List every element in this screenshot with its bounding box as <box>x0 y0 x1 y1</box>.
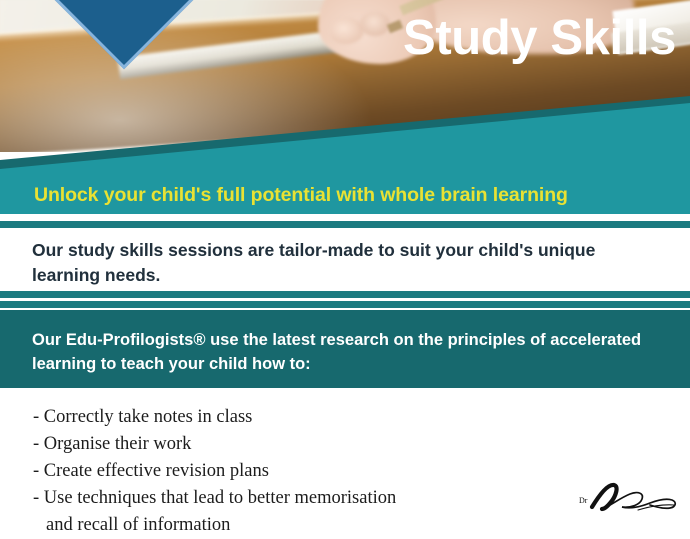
list-item: - Organise their work <box>33 431 553 458</box>
list-item: - Correctly take notes in class <box>33 404 553 431</box>
highlight-band-text: Our Edu-Profilogists® use the latest res… <box>32 329 647 377</box>
list-item-label: Correctly take notes in class <box>44 407 253 427</box>
benefits-list: - Correctly take notes in class- Organis… <box>33 404 553 539</box>
list-item-marker: - <box>33 407 44 427</box>
list-item: - Use techniques that lead to better mem… <box>33 485 553 512</box>
svg-text:Dr: Dr <box>579 496 588 505</box>
divider-rule <box>0 221 690 228</box>
list-item-marker: - <box>33 488 44 508</box>
list-item: - Create effective revision plans <box>33 458 553 485</box>
list-item-label: Create effective revision plans <box>44 461 269 481</box>
list-item-marker: - <box>33 434 44 454</box>
list-item-label: Organise their work <box>44 434 192 454</box>
tagline: Unlock your child's full potential with … <box>34 184 568 207</box>
page-title: Study Skills <box>403 14 676 63</box>
handwritten-signature-icon: Dr <box>578 476 686 518</box>
divider-rule <box>0 291 690 298</box>
divider-rule <box>0 301 690 308</box>
list-item-continuation: and recall of information <box>33 512 553 539</box>
list-item-marker: - <box>33 461 44 481</box>
list-item-label: Use techniques that lead to better memor… <box>44 488 396 508</box>
lead-text: Our study skills sessions are tailor-mad… <box>32 238 657 288</box>
